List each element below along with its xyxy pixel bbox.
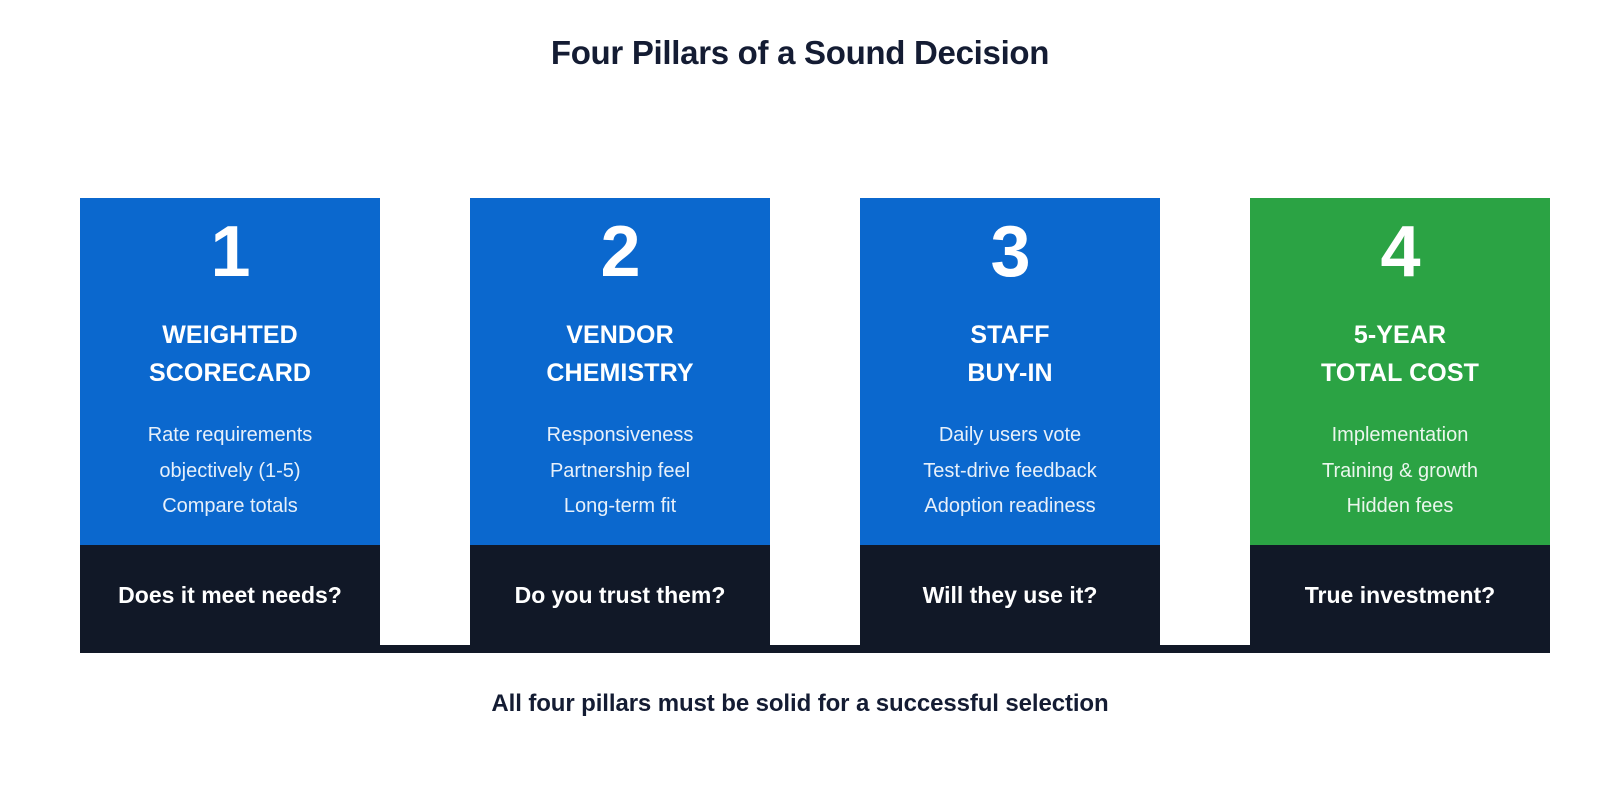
pillar-heading-line-1: STAFF: [967, 316, 1052, 354]
page-title: Four Pillars of a Sound Decision: [0, 34, 1600, 72]
footer-caption: All four pillars must be solid for a suc…: [0, 690, 1600, 718]
pillar-heading: STAFF BUY-IN: [967, 316, 1052, 392]
pillar-question: Do you trust them?: [470, 545, 770, 653]
pillar-heading-line-2: BUY-IN: [967, 354, 1052, 392]
pillar-detail-line: Rate requirements: [148, 418, 313, 454]
pillar-question: Will they use it?: [860, 545, 1160, 653]
pillar-heading: VENDOR CHEMISTRY: [546, 316, 693, 392]
pillar-card-2-body: 2 VENDOR CHEMISTRY Responsiveness Partne…: [470, 198, 770, 545]
pillar-detail-line: Daily users vote: [923, 418, 1096, 454]
four-pillars-infographic: Four Pillars of a Sound Decision 1 WEIGH…: [0, 0, 1600, 800]
pillar-heading-line-2: SCORECARD: [149, 354, 311, 392]
pillar-heading-line-1: VENDOR: [546, 316, 693, 354]
pillar-detail-line: Responsiveness: [547, 418, 694, 454]
pillar-card-2[interactable]: 2 VENDOR CHEMISTRY Responsiveness Partne…: [470, 198, 770, 653]
pillar-detail-line: Implementation: [1322, 418, 1478, 454]
pillar-details: Responsiveness Partnership feel Long-ter…: [547, 418, 694, 525]
pillar-card-4-body: 4 5-YEAR TOTAL COST Implementation Train…: [1250, 198, 1550, 545]
pillar-heading: WEIGHTED SCORECARD: [149, 316, 311, 392]
pillar-detail-line: objectively (1-5): [148, 454, 313, 490]
gutter-1: [380, 198, 470, 645]
pillar-card-3-body: 3 STAFF BUY-IN Daily users vote Test-dri…: [860, 198, 1160, 545]
pillar-heading-line-1: WEIGHTED: [149, 316, 311, 354]
pillar-detail-line: Hidden fees: [1322, 489, 1478, 525]
pillar-number: 3: [990, 216, 1029, 288]
pillar-question: True investment?: [1250, 545, 1550, 653]
pillar-heading-line-1: 5-YEAR: [1321, 316, 1479, 354]
pillar-detail-line: Training & growth: [1322, 454, 1478, 490]
pillar-details: Rate requirements objectively (1-5) Comp…: [148, 418, 313, 525]
pillar-number: 4: [1380, 216, 1419, 288]
pillar-card-3[interactable]: 3 STAFF BUY-IN Daily users vote Test-dri…: [860, 198, 1160, 653]
pillar-heading: 5-YEAR TOTAL COST: [1321, 316, 1479, 392]
pillar-detail-line: Partnership feel: [547, 454, 694, 490]
pillar-heading-line-2: TOTAL COST: [1321, 354, 1479, 392]
pillar-card-1-body: 1 WEIGHTED SCORECARD Rate requirements o…: [80, 198, 380, 545]
pillar-detail-line: Compare totals: [148, 489, 313, 525]
pillar-detail-line: Test-drive feedback: [923, 454, 1096, 490]
pillar-details: Implementation Training & growth Hidden …: [1322, 418, 1478, 525]
pillars-row: 1 WEIGHTED SCORECARD Rate requirements o…: [80, 198, 1550, 653]
pillar-detail-line: Adoption readiness: [923, 489, 1096, 525]
pillar-heading-line-2: CHEMISTRY: [546, 354, 693, 392]
pillar-card-4[interactable]: 4 5-YEAR TOTAL COST Implementation Train…: [1250, 198, 1550, 653]
pillar-card-1[interactable]: 1 WEIGHTED SCORECARD Rate requirements o…: [80, 198, 380, 653]
pillar-detail-line: Long-term fit: [547, 489, 694, 525]
gutter-3: [1160, 198, 1250, 645]
gutter-2: [770, 198, 860, 645]
pillar-question: Does it meet needs?: [80, 545, 380, 653]
pillar-number: 2: [600, 216, 639, 288]
pillar-number: 1: [210, 216, 249, 288]
pillar-details: Daily users vote Test-drive feedback Ado…: [923, 418, 1096, 525]
